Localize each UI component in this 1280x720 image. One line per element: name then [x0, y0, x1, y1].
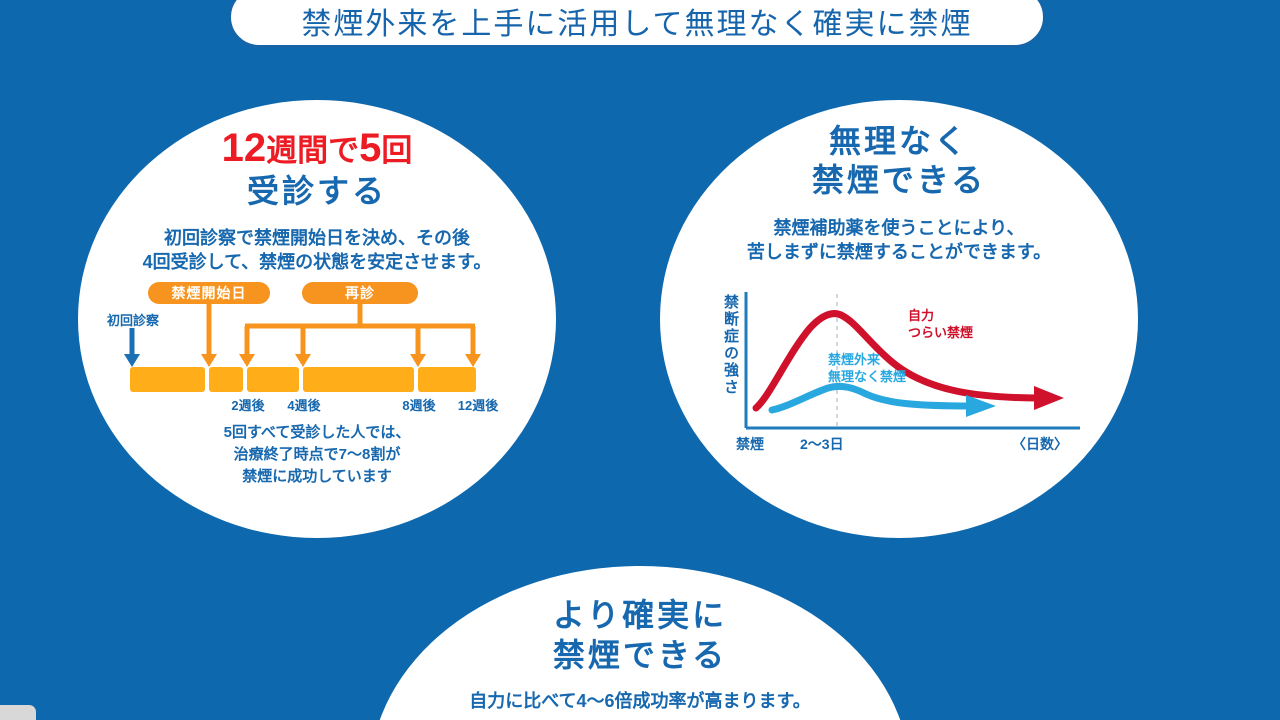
left-panel-footer: 5回すべて受診した人では、 治療終了時点で7〜8割が 禁煙に成功しています: [78, 422, 556, 487]
bottom-body-line-1: 自力に比べて4〜6倍成功率が高まります。: [370, 689, 910, 713]
right-body-line-2: 苦しまずに禁煙することができます。: [660, 240, 1138, 264]
right-body-line-1: 禁煙補助薬を使うことにより、: [660, 216, 1138, 240]
right-panel-heading-line1: 無理なく: [660, 124, 1138, 160]
chart-series-self-quit-arrowhead: [1034, 386, 1064, 410]
bottom-panel-heading-line2: 禁煙できる: [370, 638, 910, 674]
slide-canvas: 禁煙外来を上手に活用して無理なく確実に禁煙 12週間で5回 受診する 初回診察で…: [0, 0, 1280, 720]
revisit-bracket: [239, 304, 481, 367]
left-body-line-2: 4回受診して、禁煙の状態を安定させます。: [78, 250, 556, 274]
panel-left-ellipse: 12週間で5回 受診する 初回診察で禁煙開始日を決め、その後 4回受診して、禁煙…: [78, 100, 556, 538]
chart-x-tick-quit: 禁煙: [736, 434, 764, 454]
left-footer-line-2: 治療終了時点で7〜8割が: [78, 444, 556, 466]
chart-x-tick-days: 2〜3日: [800, 434, 844, 454]
timeline-connectors-svg: [78, 282, 556, 412]
panel-bottom-ellipse: より確実に 禁煙できる 自力に比べて4〜6倍成功率が高まります。: [370, 566, 910, 720]
timeline-segment: [303, 367, 414, 392]
left-heading-unit1: 週間で: [266, 133, 359, 168]
timeline-segment: [418, 367, 476, 392]
timeline-week-label-4: 4週後: [287, 395, 320, 414]
timeline-segment: [247, 367, 299, 392]
right-panel-heading-line2: 禁煙できる: [660, 163, 1138, 199]
treatment-timeline-diagram: 禁煙開始日 再診 初回診察: [78, 282, 556, 412]
timeline-segment: [209, 367, 243, 392]
left-body-line-1: 初回診察で禁煙開始日を決め、その後: [78, 226, 556, 250]
chart-annotation-self-quit-line2: つらい禁煙: [908, 325, 973, 342]
chart-annotation-clinic: 禁煙外来 無理なく禁煙: [828, 352, 906, 386]
left-heading-unit2: 回: [381, 133, 412, 168]
timeline-week-label-2: 2週後: [231, 395, 264, 414]
chart-annotation-clinic-line2: 無理なく禁煙: [828, 369, 906, 386]
bottom-panel-heading-line1: より確実に: [370, 598, 910, 634]
bottom-panel-body: 自力に比べて4〜6倍成功率が高まります。: [370, 689, 910, 713]
left-footer-line-1: 5回すべて受診した人では、: [78, 422, 556, 444]
timeline-segment: [130, 367, 205, 392]
left-panel-body: 初回診察で禁煙開始日を決め、その後 4回受診して、禁煙の状態を安定させます。: [78, 226, 556, 275]
media-player-control-chip[interactable]: [0, 705, 36, 720]
chart-x-axis-unit: 〈日数〉: [1012, 434, 1068, 454]
chart-annotation-self-quit-line1: 自力: [908, 308, 973, 325]
timeline-week-label-8: 8週後: [402, 395, 435, 414]
timeline-week-label-12: 12週後: [458, 395, 498, 414]
chart-annotation-self-quit: 自力 つらい禁煙: [908, 308, 973, 342]
slide-title-banner: 禁煙外来を上手に活用して無理なく確実に禁煙: [228, 0, 1046, 48]
left-heading-num2: 5: [359, 126, 381, 170]
chart-annotation-clinic-line1: 禁煙外来: [828, 352, 906, 369]
panel-right-ellipse: 無理なく 禁煙できる 禁煙補助薬を使うことにより、 苦しまずに禁煙することができ…: [660, 100, 1138, 538]
withdrawal-symptom-chart: 禁断症の強さ 自力 つらい禁煙 禁煙外来 無理なく禁煙: [660, 288, 1138, 463]
left-heading-num1: 12: [222, 126, 267, 170]
left-footer-line-3: 禁煙に成功しています: [78, 466, 556, 488]
left-panel-heading-blue: 受診する: [78, 174, 556, 210]
quit-start-arrow-icon: [201, 304, 217, 367]
right-panel-body: 禁煙補助薬を使うことにより、 苦しまずに禁煙することができます。: [660, 216, 1138, 265]
left-panel-heading-red: 12週間で5回: [78, 128, 556, 168]
page-title: 禁煙外来を上手に活用して無理なく確実に禁煙: [301, 8, 972, 41]
first-visit-arrow-icon: [124, 328, 140, 367]
